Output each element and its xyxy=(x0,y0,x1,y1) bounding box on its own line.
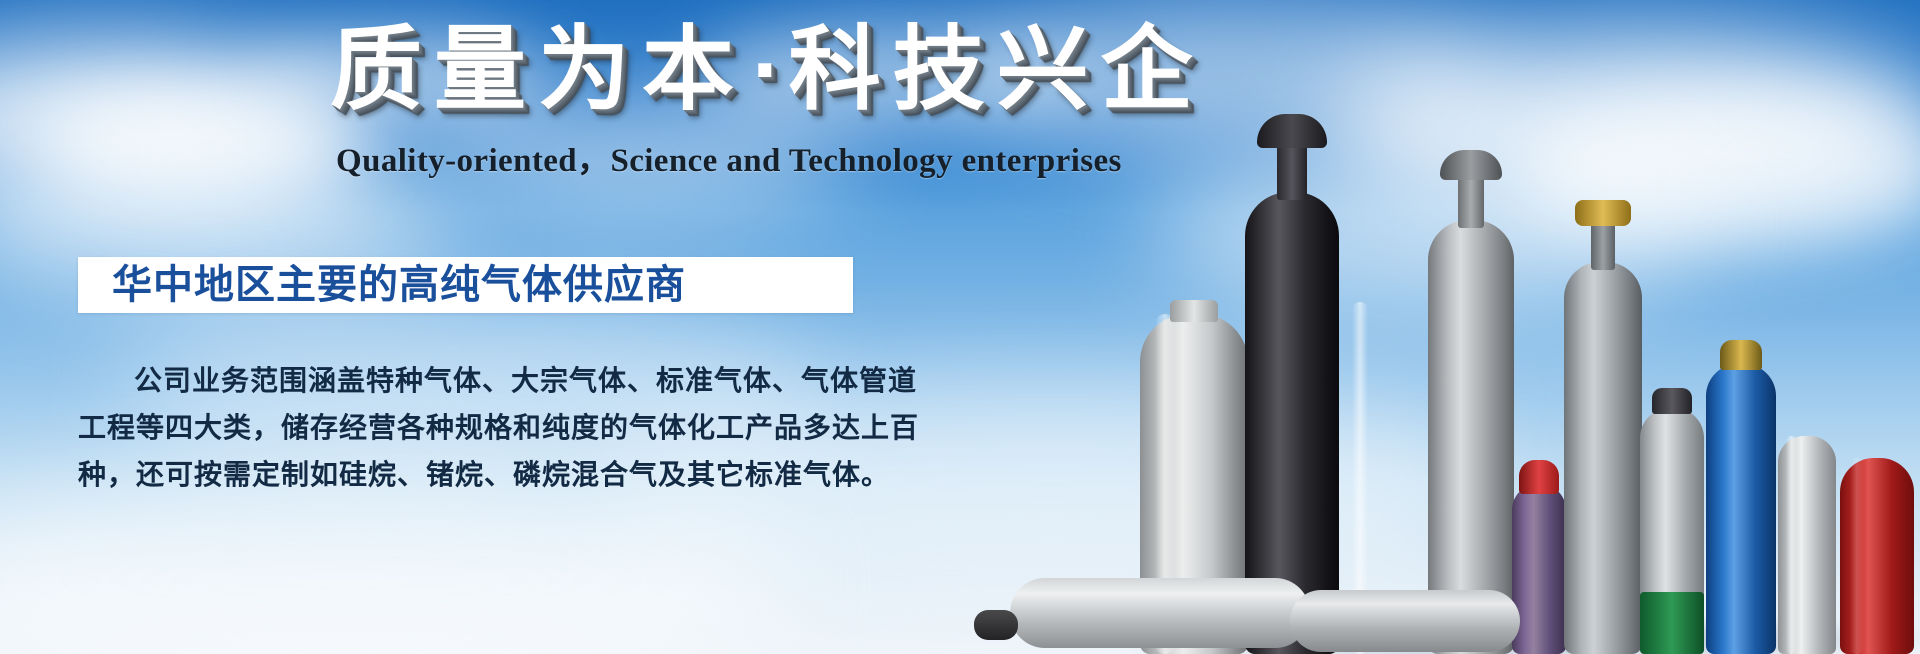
promo-banner: 质量为本·科技兴企 Quality-oriented，Science and T… xyxy=(0,0,1920,654)
banner-headline: 质量为本·科技兴企 xyxy=(330,22,1270,119)
slogan-box: 华中地区主要的高纯气体供应商 xyxy=(78,257,853,313)
cylinder-valve-gold xyxy=(1575,200,1631,226)
cylinder-red-right xyxy=(1840,458,1914,654)
cylinder-cap xyxy=(1519,460,1559,494)
headline-left-text: 质量为本 xyxy=(330,19,746,121)
cylinder-purple-small xyxy=(1512,484,1566,654)
cylinder-steel-valve xyxy=(1564,262,1642,654)
banner-subtitle: Quality-oriented，Science and Technology … xyxy=(336,133,1266,181)
cylinder-horizontal-grey xyxy=(1010,578,1310,648)
cylinder-green-base xyxy=(1640,408,1704,654)
slogan-text: 华中地区主要的高纯气体供应商 xyxy=(78,265,686,305)
cylinder-grey-tall xyxy=(1428,220,1514,654)
gas-cylinder-lineup xyxy=(1140,150,1920,654)
headline-separator: · xyxy=(746,19,789,121)
paragraph-line: 工程等四大类，储存经营各种规格和纯度的气体化工产品多达上百 xyxy=(78,405,868,452)
cylinder-horizontal-grey xyxy=(1290,590,1520,652)
cylinder-cap xyxy=(1720,340,1762,370)
cylinder-horizontal-valve xyxy=(974,610,1018,640)
cylinder-valve xyxy=(1440,150,1502,180)
cylinder-cap xyxy=(1170,300,1218,322)
cylinder-cap xyxy=(1652,388,1692,414)
cylinder-blue-mid xyxy=(1706,364,1776,654)
headline-right-text: 科技兴企 xyxy=(789,19,1205,121)
description-paragraph: 公司业务范围涵盖特种气体、大宗气体、标准气体、气体管道 工程等四大类，储存经营各… xyxy=(78,358,868,499)
paragraph-line: 种，还可按需定制如硅烷、锗烷、磷烷混合气及其它标准气体。 xyxy=(78,452,868,499)
paragraph-line: 公司业务范围涵盖特种气体、大宗气体、标准气体、气体管道 xyxy=(78,358,868,405)
cylinder-aluminium-slim xyxy=(1778,436,1836,654)
